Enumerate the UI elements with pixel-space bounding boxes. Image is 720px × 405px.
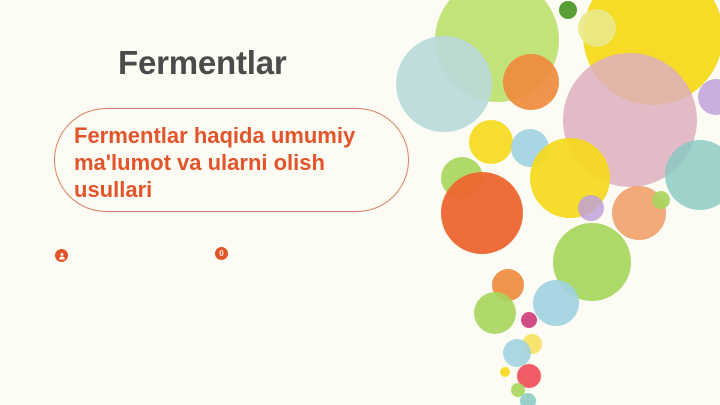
- bubble-yellow-mid: [530, 138, 610, 218]
- bubble-green-large-top: [435, 0, 559, 102]
- presentation-slide: Fermentlar Fermentlar haqida umumiy ma'l…: [0, 0, 720, 405]
- bubble-teal-dot-bottom: [520, 393, 536, 405]
- bubble-pink-large: [563, 53, 697, 187]
- bubble-lilac-small: [578, 195, 604, 221]
- bubble-yellow-large-top: [583, 0, 720, 105]
- bubble-purple-edge: [698, 79, 720, 115]
- bubble-pale-yellow-small: [578, 9, 616, 47]
- bubble-red-dot: [517, 364, 541, 388]
- bubble-orange-mid: [503, 54, 559, 110]
- bubble-teal-right: [665, 140, 720, 210]
- slide-content: Fermentlar Fermentlar haqida umumiy ma'l…: [0, 0, 430, 405]
- bubble-softyellow-tiny: [522, 334, 542, 354]
- page-title: Fermentlar: [118, 44, 287, 82]
- author-icon[interactable]: [55, 249, 68, 262]
- bubble-orange-small-low: [492, 269, 524, 301]
- bubble-deep-orange-large: [441, 172, 523, 254]
- bubble-green-small-low: [474, 292, 516, 334]
- bubble-salmon-right: [612, 186, 666, 240]
- bubble-yellow-small-left: [469, 120, 513, 164]
- subtitle-text: Fermentlar haqida umumiy ma'lumot va ula…: [74, 122, 394, 203]
- bubble-dark-green-dot: [559, 1, 577, 19]
- bubble-green-dot-right: [652, 191, 670, 209]
- bubble-skyblue-small: [511, 129, 549, 167]
- bubble-green-small-left: [441, 157, 483, 199]
- bubble-green-big-lower: [553, 223, 631, 301]
- slide-number-icon[interactable]: 0: [215, 247, 228, 260]
- bubble-yellow-dot: [500, 367, 510, 377]
- bubble-green-dot-bottom: [511, 383, 525, 397]
- bubble-magenta-dot: [521, 312, 537, 328]
- bubble-skyblue-tiny: [503, 339, 531, 367]
- bubble-skyblue-mid-low: [533, 280, 579, 326]
